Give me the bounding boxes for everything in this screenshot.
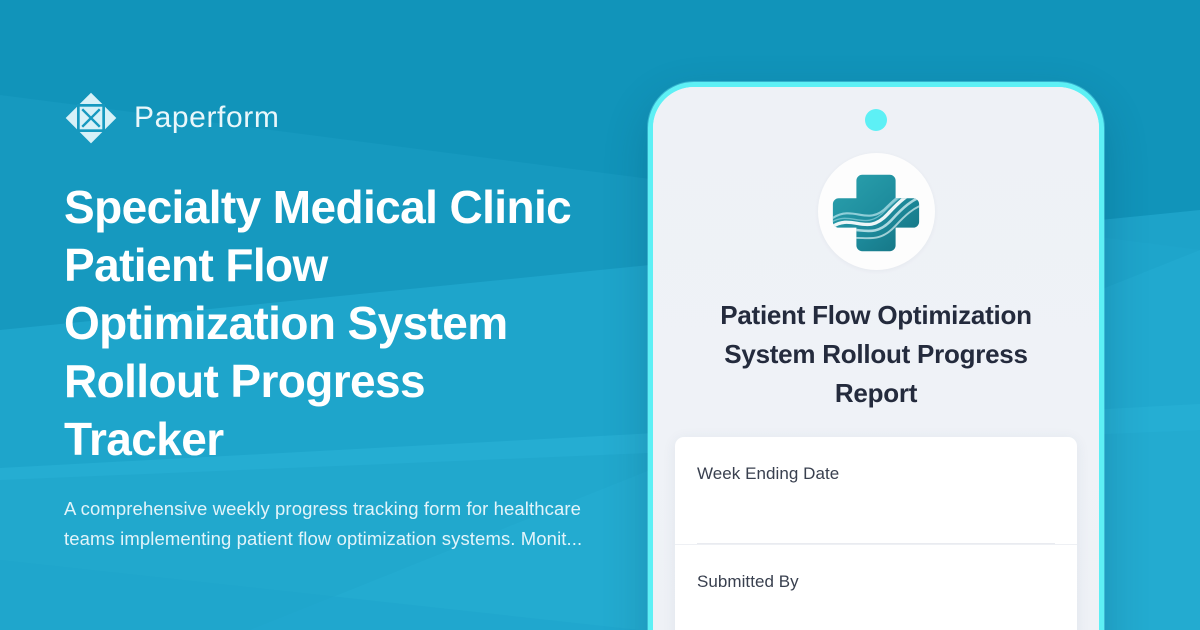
field-label: Submitted By	[697, 571, 1055, 593]
brand-lockup: Paperform	[64, 91, 644, 145]
form-field-submitted-by[interactable]: Submitted By	[675, 544, 1077, 630]
form-field-week-ending-date[interactable]: Week Ending Date	[675, 437, 1077, 544]
paperform-star-logo-icon	[64, 91, 118, 145]
camera-dot-icon	[865, 109, 887, 131]
medical-cross-wave-icon	[827, 163, 925, 261]
week-ending-date-input[interactable]	[697, 497, 1055, 544]
brand-name: Paperform	[134, 103, 279, 133]
form-logo-avatar	[818, 153, 935, 270]
form-card: Week Ending Date Submitted By	[675, 437, 1077, 630]
hero-column: Paperform Specialty Medical Clinic Patie…	[64, 0, 644, 630]
phone-mockup: Patient Flow Optimization System Rollout…	[648, 82, 1104, 630]
submitted-by-input[interactable]	[697, 605, 1055, 630]
phone-screen: Patient Flow Optimization System Rollout…	[653, 87, 1099, 630]
page-description: A comprehensive weekly progress tracking…	[64, 494, 584, 554]
field-label: Week Ending Date	[697, 463, 1055, 485]
form-title: Patient Flow Optimization System Rollout…	[690, 296, 1062, 413]
page-title: Specialty Medical Clinic Patient Flow Op…	[64, 178, 574, 468]
